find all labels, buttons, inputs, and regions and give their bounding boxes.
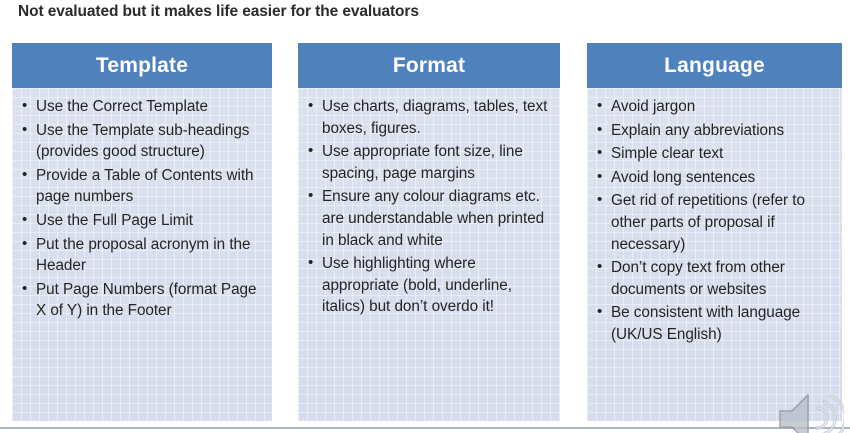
list-item: Don’t copy text from other documents or …	[593, 257, 838, 300]
table-column-language: Language Avoid jargon Explain any abbrev…	[587, 43, 842, 421]
list-item: Explain any abbreviations	[593, 120, 838, 142]
column-header-format: Format	[298, 43, 560, 88]
list-item: Put Page Numbers (format Page X of Y) in…	[18, 279, 268, 322]
list-item: Get rid of repetitions (refer to other p…	[593, 190, 838, 255]
table-column-format: Format Use charts, diagrams, tables, tex…	[298, 43, 560, 421]
bullet-list-format: Use charts, diagrams, tables, text boxes…	[304, 96, 556, 318]
column-body-template: Use the Correct Template Use the Templat…	[12, 88, 272, 421]
list-item: Use the Full Page Limit	[18, 210, 268, 232]
table-column-template: Template Use the Correct Template Use th…	[12, 43, 272, 421]
list-item: Be consistent with language (UK/US Engli…	[593, 302, 838, 345]
speaker-sound-icon[interactable]	[776, 391, 844, 433]
bullet-list-language: Avoid jargon Explain any abbreviations S…	[593, 96, 838, 346]
list-item: Use highlighting where appropriate (bold…	[304, 253, 556, 318]
list-item: Use the Template sub-headings (provides …	[18, 120, 268, 163]
list-item: Avoid long sentences	[593, 167, 838, 189]
list-item: Use charts, diagrams, tables, text boxes…	[304, 96, 556, 139]
bullet-list-template: Use the Correct Template Use the Templat…	[18, 96, 268, 322]
column-header-template: Template	[12, 43, 272, 88]
list-item: Use appropriate font size, line spacing,…	[304, 141, 556, 184]
list-item: Ensure any colour diagrams etc. are unde…	[304, 186, 556, 251]
list-item: Simple clear text	[593, 143, 838, 165]
column-body-language: Avoid jargon Explain any abbreviations S…	[587, 88, 842, 421]
list-item: Provide a Table of Contents with page nu…	[18, 165, 268, 208]
three-column-table: Template Use the Correct Template Use th…	[0, 43, 850, 421]
bottom-white-strip	[0, 429, 850, 433]
column-body-format: Use charts, diagrams, tables, text boxes…	[298, 88, 560, 421]
list-item: Avoid jargon	[593, 96, 838, 118]
column-header-language: Language	[587, 43, 842, 88]
page-title: Not evaluated but it makes life easier f…	[18, 3, 818, 21]
list-item: Put the proposal acronym in the Header	[18, 234, 268, 277]
list-item: Use the Correct Template	[18, 96, 268, 118]
